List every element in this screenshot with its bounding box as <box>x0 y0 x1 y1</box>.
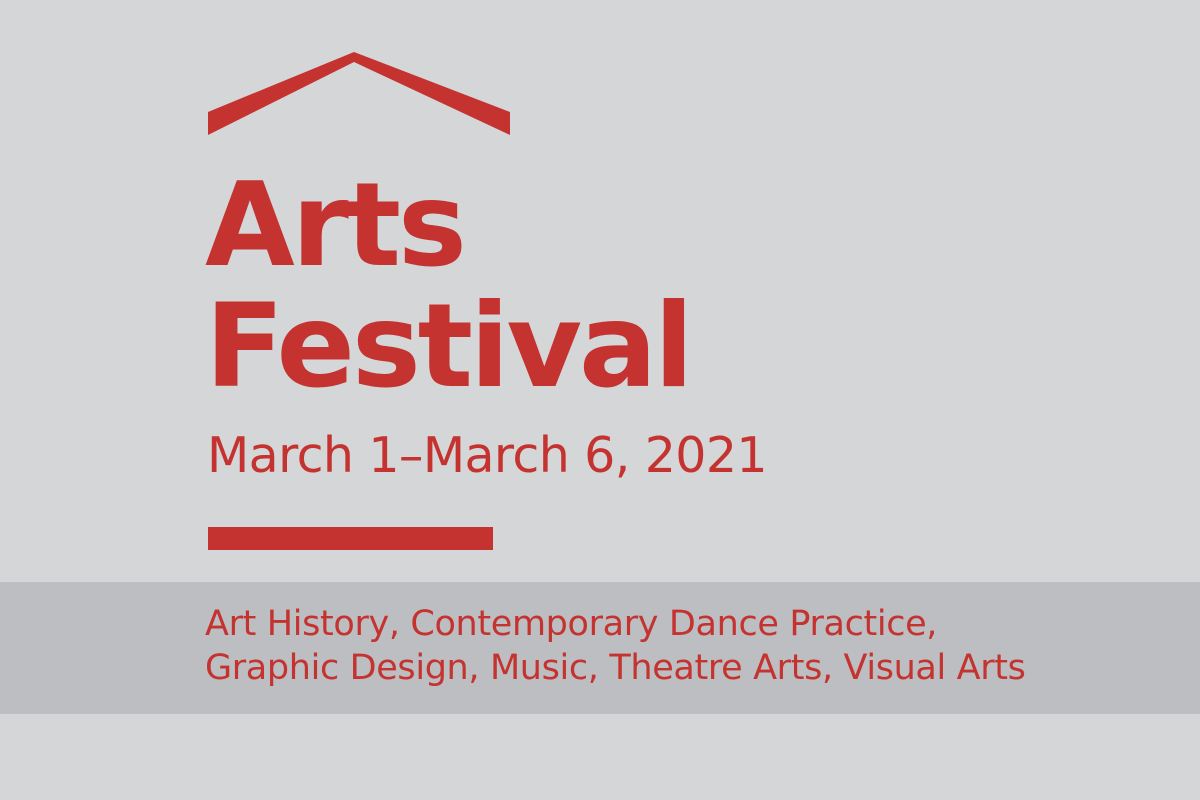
chevron-roof-mark-icon <box>200 52 510 147</box>
subjects-list: Art History, Contemporary Dance Practice… <box>205 602 1165 690</box>
event-dates: March 1–March 6, 2021 <box>207 428 767 484</box>
arts-festival-poster: Arts Festival March 1–March 6, 2021 Art … <box>0 0 1200 800</box>
accent-divider-bar <box>208 527 493 550</box>
page-title: Arts Festival <box>205 168 1105 405</box>
title-line-arts: Arts <box>205 168 1105 284</box>
subjects-line-1: Art History, Contemporary Dance Practice… <box>205 602 1165 646</box>
title-line-festival: Festival <box>205 289 1105 405</box>
subjects-line-2: Graphic Design, Music, Theatre Arts, Vis… <box>205 646 1165 690</box>
